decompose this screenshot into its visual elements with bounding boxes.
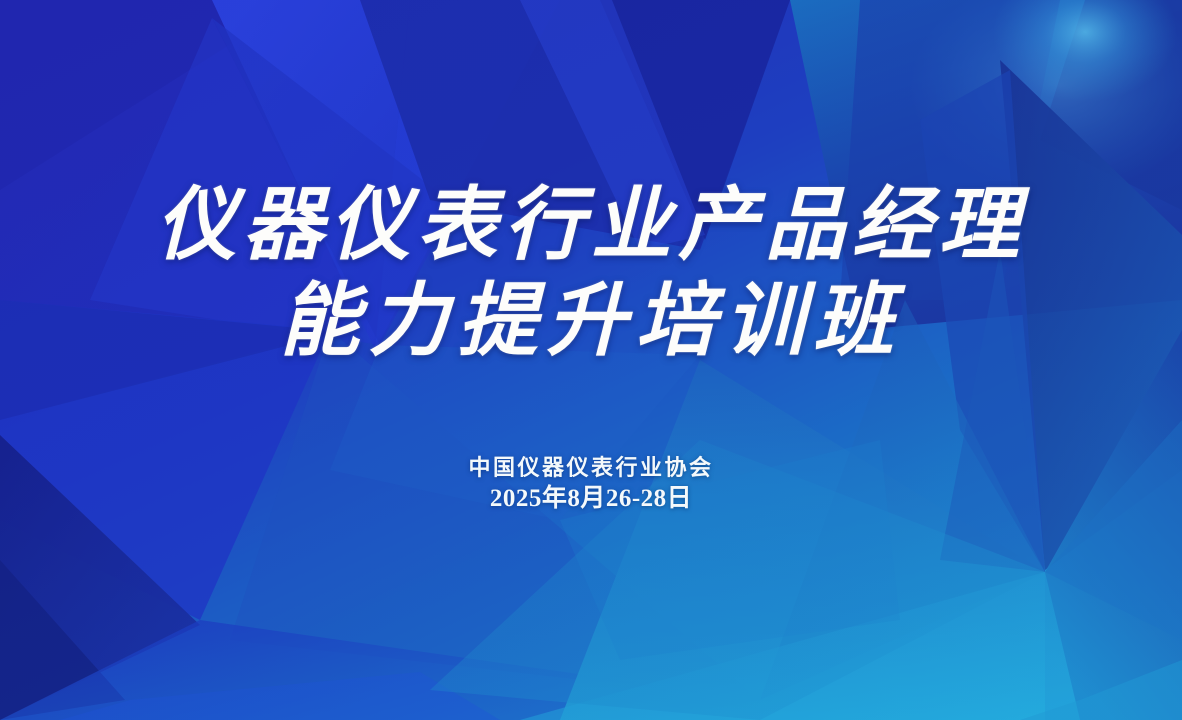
event-date-label: 2025年8月26-28日 (0, 483, 1182, 514)
poster-title: 仪器仪表行业产品经理 能力提升培训班 (0, 178, 1182, 370)
title-line-2: 能力提升培训班 (0, 274, 1182, 370)
poster-subtitle: 中国仪器仪表行业协会 2025年8月26-28日 (0, 452, 1182, 514)
poster-content: 仪器仪表行业产品经理 能力提升培训班 中国仪器仪表行业协会 2025年8月26-… (0, 0, 1182, 720)
organizer-label: 中国仪器仪表行业协会 (0, 452, 1182, 483)
title-line-1: 仪器仪表行业产品经理 (0, 178, 1182, 274)
poster-canvas: 仪器仪表行业产品经理 能力提升培训班 中国仪器仪表行业协会 2025年8月26-… (0, 0, 1182, 720)
